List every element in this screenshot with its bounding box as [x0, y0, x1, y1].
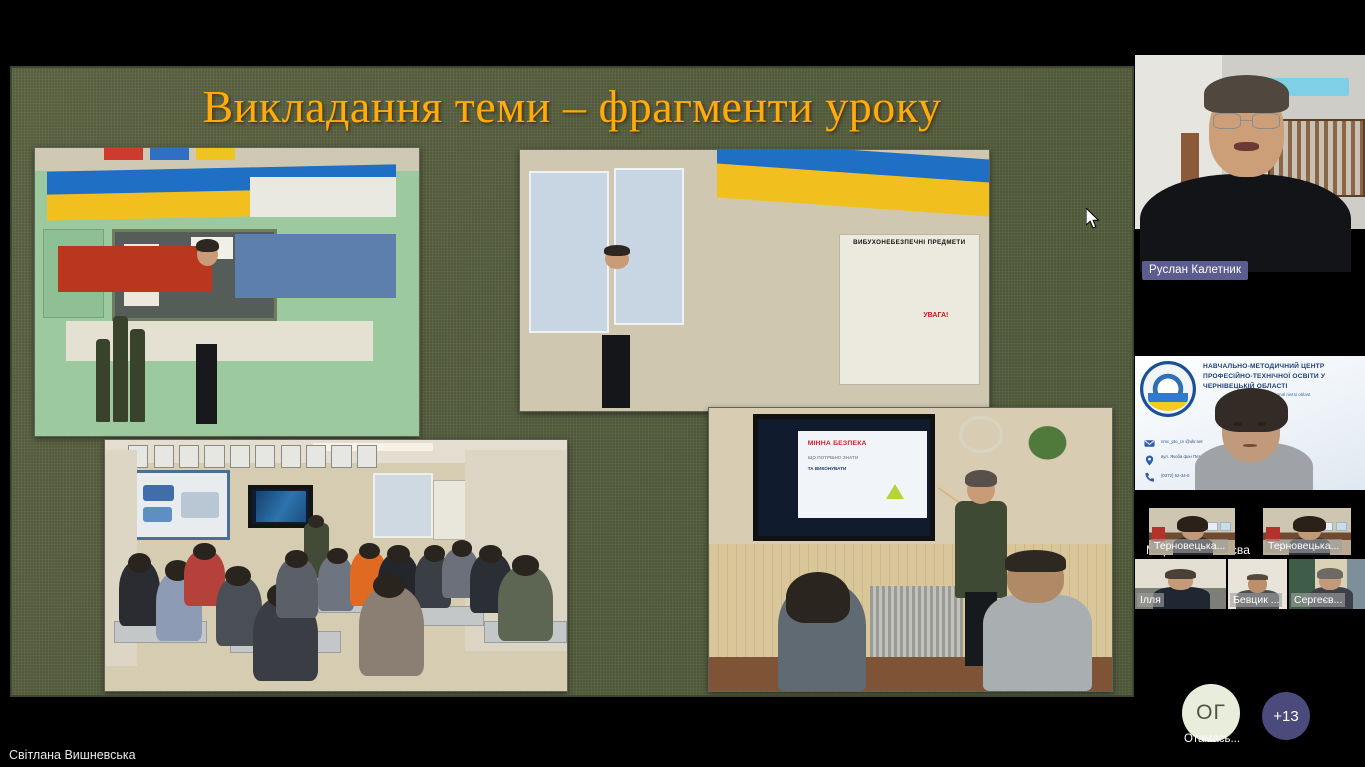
thumb-hair [1293, 516, 1326, 532]
person-teacher-legs [196, 344, 217, 425]
thumbnail-label: Бевцик ... [1230, 593, 1282, 607]
participant-eye-right [1257, 422, 1266, 426]
safety-poster [839, 234, 980, 385]
contact-phone: (0372) 52-34-0 [1161, 473, 1189, 479]
slide-photo-teacher-window: ВИБУХОНЕБЕЗПЕЧНІ ПРЕДМЕТИ УВАГА! [519, 149, 990, 412]
eyeglass-right-icon [1252, 113, 1280, 129]
student-foreground-right [983, 595, 1092, 691]
safety-poster-heading: ВИБУХОНЕБЕЗПЕЧНІ ПРЕДМЕТИ [844, 239, 975, 246]
thumb-hair [1317, 568, 1343, 579]
displayed-slide-title: МІННА БЕЗПЕКА [808, 439, 917, 448]
meeting-screen: Викладання теми – фрагменти уроку [0, 0, 1365, 767]
slide-title: Викладання теми – фрагменти уроку [12, 80, 1132, 133]
shared-screen-stage[interactable]: Викладання теми – фрагменти уроку [0, 0, 1135, 767]
thumb-wall-item-2 [1220, 522, 1230, 531]
window-left [529, 171, 609, 333]
participant-mouth [1243, 444, 1257, 447]
speaker-hair [1204, 75, 1289, 113]
participant-thumbnail[interactable]: Ілля [1135, 559, 1226, 609]
location-pin-icon [1144, 455, 1155, 466]
students-group [105, 440, 567, 691]
speaker-body [1140, 174, 1352, 273]
thumb-wall-item [1207, 522, 1217, 531]
student-foreground-left-head [786, 572, 850, 623]
hazard-triangle-icon [886, 484, 904, 499]
thumb-hair [1165, 569, 1196, 579]
avatar-label: Отамась... [1172, 733, 1252, 745]
eyeglass-bridge [1241, 120, 1253, 121]
eyeglass-left-icon [1213, 113, 1241, 129]
participant-thumbnail[interactable]: Бевцик ... [1228, 559, 1287, 609]
displayed-slide-line2: ЩО ПОТРІБНО ЗНАТИ [808, 455, 858, 460]
participants-sidebar[interactable]: Руслан Калетник НАВЧАЛЬНО-МЕТОДИЧНИЙ ЦЕН… [1135, 0, 1365, 767]
ukraine-flag-motif [1148, 393, 1188, 411]
participant-hair [1215, 388, 1288, 432]
displayed-slide-line3: ТА ВИКОНУВАТИ [808, 466, 847, 471]
person-hair [196, 239, 219, 252]
thumb-hair [1247, 574, 1268, 580]
slide-photo-teacher-screen: МІННА БЕЗПЕКА ЩО ПОТРІБНО ЗНАТИ ТА ВИКОН… [708, 407, 1113, 692]
radiator [870, 586, 963, 657]
speaker-name-badge: Руслан Калетник [1142, 261, 1248, 280]
photo-3-content [105, 440, 567, 691]
participant-thumbnail[interactable]: Терновецька... [1149, 508, 1235, 555]
person-teacher [955, 501, 1007, 597]
person-teacher-hair [965, 470, 997, 487]
photo-1-content [35, 148, 419, 436]
wall-plant-decor [1015, 414, 1079, 462]
student-foreground-right-hair [1005, 550, 1065, 573]
photo-4-content: МІННА БЕЗПЕКА ЩО ПОТРІБНО ЗНАТИ ТА ВИКОН… [709, 408, 1112, 691]
participant-person [1195, 382, 1313, 490]
participant-tile-speaker[interactable] [1135, 55, 1365, 345]
slide-photo-students-classroom [104, 439, 568, 692]
thumb-wall-item-2 [1336, 522, 1347, 531]
presentation-slide[interactable]: Викладання теми – фрагменти уроку [10, 66, 1134, 697]
person-hair [604, 245, 630, 255]
thumbnail-label: Терновецька... [1151, 539, 1228, 553]
participant-eye-left [1233, 422, 1242, 426]
photo-2-content: ВИБУХОНЕБЕЗПЕЧНІ ПРЕДМЕТИ УВАГА! [520, 150, 989, 411]
organization-logo-icon [1140, 361, 1196, 417]
active-speaker-label: Світлана Вишневська [9, 748, 136, 762]
slide-photo-teacher-standing [34, 147, 420, 437]
participant-thumbnail[interactable]: Терновецька... [1263, 508, 1351, 555]
thumbnail-label: Терновецька... [1265, 539, 1342, 553]
thumb-hair [1177, 516, 1208, 532]
thumbnail-label: Ілля [1137, 593, 1164, 607]
ordnance-display [96, 306, 150, 421]
phone-icon [1144, 472, 1155, 483]
warning-label: УВАГА! [923, 312, 948, 319]
participant-tile-virtual-background[interactable]: НАВЧАЛЬНО-МЕТОДИЧНИЙ ЦЕНТР ПРОФЕСІЙНО-ТЕ… [1135, 356, 1365, 490]
email-icon [1144, 438, 1155, 449]
participant-thumbnail[interactable]: Сергеєв... [1289, 559, 1365, 609]
overflow-participants-badge[interactable]: +13 [1262, 692, 1310, 740]
speaker-mouth [1234, 142, 1259, 151]
person-teacher-legs [602, 335, 630, 408]
thumbnail-label: Сергеєв... [1291, 593, 1345, 607]
